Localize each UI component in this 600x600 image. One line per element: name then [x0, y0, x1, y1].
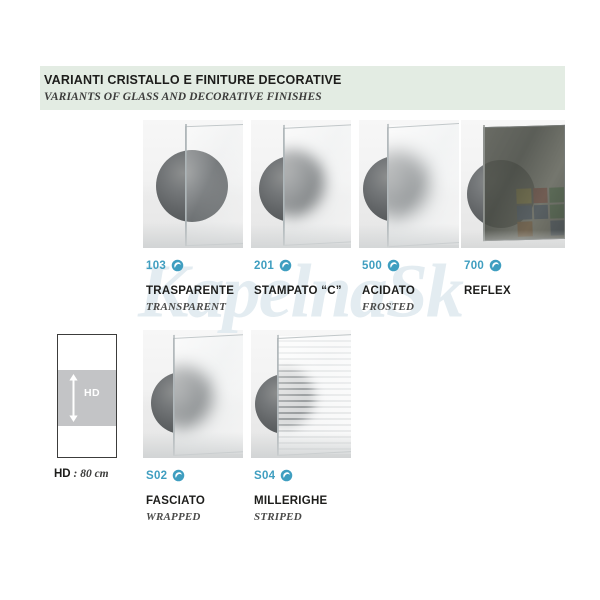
- glass-swatch-icon: [387, 259, 400, 272]
- page-title: VARIANTI CRISTALLO E FINITURE DECORATIVE: [44, 73, 342, 87]
- hd-band-label: HD: [84, 387, 100, 399]
- code-number-s04: S04: [254, 470, 275, 482]
- hd-caption-label: HD: [54, 468, 71, 480]
- code-number-103: 103: [146, 260, 166, 272]
- finish-name-it-s04: MILLERIGHE: [254, 495, 327, 507]
- finish-name-en-500: FROSTED: [362, 301, 414, 313]
- sample-image-transparent[interactable]: [143, 120, 243, 248]
- code-number-500: 500: [362, 260, 382, 272]
- glass-swatch-icon: [280, 469, 293, 482]
- finish-name-en-s04: STRIPED: [254, 511, 302, 523]
- glass-swatch-icon: [172, 469, 185, 482]
- hd-caption-value: : 80 cm: [71, 468, 109, 480]
- code-number-201: 201: [254, 260, 274, 272]
- finish-name-it-s02: FASCIATO: [146, 495, 205, 507]
- sample-image-printed-c[interactable]: [251, 120, 351, 248]
- finish-name-en-103: TRANSPARENT: [146, 301, 226, 313]
- code-row-201: 201: [254, 259, 292, 272]
- code-row-700: 700: [464, 259, 502, 272]
- glass-swatch-icon: [279, 259, 292, 272]
- code-number-s02: S02: [146, 470, 167, 482]
- hd-caption: HD : 80 cm: [54, 468, 109, 480]
- finish-name-it-201: STAMPATO “C”: [254, 285, 342, 297]
- finish-name-it-103: TRASPARENTE: [146, 285, 234, 297]
- sample-image-reflex[interactable]: [461, 120, 565, 248]
- finish-name-it-500: ACIDATO: [362, 285, 415, 297]
- hd-double-arrow-icon: [69, 374, 78, 422]
- glass-swatch-icon: [489, 259, 502, 272]
- sample-image-wrapped[interactable]: [143, 330, 243, 458]
- code-row-s04: S04: [254, 469, 293, 482]
- sample-image-frosted[interactable]: [359, 120, 459, 248]
- code-row-103: 103: [146, 259, 184, 272]
- catalog-page: KapelnaSk VARIANTI CRISTALLO E FINITURE …: [0, 0, 600, 600]
- page-subtitle: VARIANTS OF GLASS AND DECORATIVE FINISHE…: [44, 91, 322, 103]
- finish-name-en-s02: WRAPPED: [146, 511, 201, 523]
- code-row-500: 500: [362, 259, 400, 272]
- finish-name-it-700: REFLEX: [464, 285, 511, 297]
- hd-diagram: HD: [57, 334, 117, 458]
- code-row-s02: S02: [146, 469, 185, 482]
- sample-image-striped[interactable]: [251, 330, 351, 458]
- code-number-700: 700: [464, 260, 484, 272]
- glass-swatch-icon: [171, 259, 184, 272]
